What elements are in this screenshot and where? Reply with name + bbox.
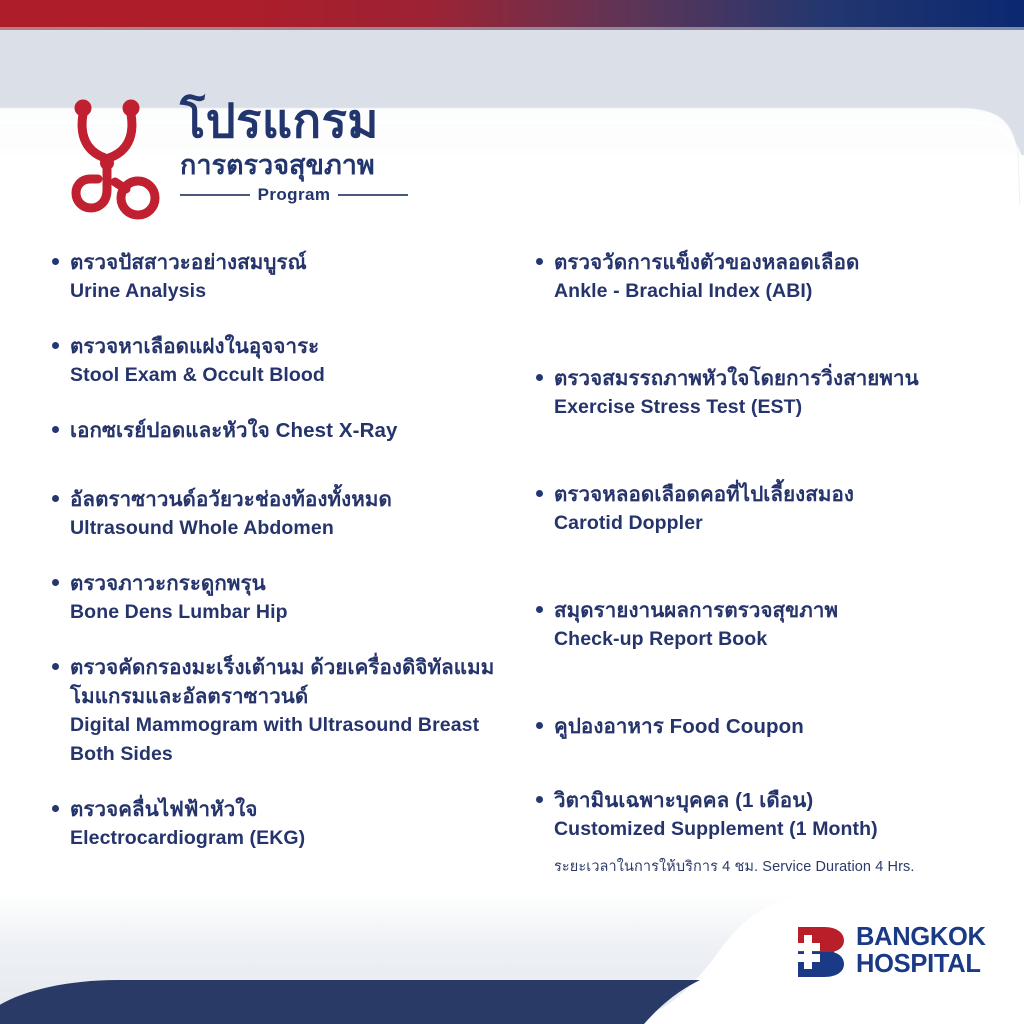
item-thai: ตรวจหลอดเลือดคอที่ไปเลี้ยงสมอง [554, 480, 996, 509]
list-item: ตรวจหลอดเลือดคอที่ไปเลี้ยงสมอง Carotid D… [536, 480, 996, 538]
item-thai: ตรวจปัสสาวะอย่างสมบูรณ์ [70, 248, 502, 277]
bullet-icon [52, 342, 59, 349]
bullet-icon [52, 579, 59, 586]
bangkok-hospital-wordmark: BANGKOK HOSPITAL [856, 924, 986, 978]
brand-line-2: HOSPITAL [856, 951, 986, 978]
rule-left [180, 194, 250, 196]
item-english: Urine Analysis [70, 277, 502, 306]
item-thai: เอกซเรย์ปอดและหัวใจ Chest X-Ray [70, 416, 502, 445]
top-gradient-bar [0, 0, 1024, 27]
program-logo: โปรแกรม การตรวจสุขภาพ Program [68, 92, 398, 224]
footer: BANGKOK HOSPITAL [0, 894, 1024, 1024]
item-english: Ultrasound Whole Abdomen [70, 514, 502, 543]
stethoscope-icon [68, 94, 172, 220]
program-title-thai: โปรแกรม [180, 92, 480, 150]
item-english: Check-up Report Book [554, 625, 996, 654]
program-label-en: Program [258, 185, 331, 205]
item-thai: วิตามินเฉพาะบุคคล (1 เดือน) [554, 786, 996, 815]
item-thai: คูปองอาหาร Food Coupon [554, 712, 996, 741]
bullet-icon [52, 805, 59, 812]
bangkok-hospital-b-cross-logo [794, 926, 848, 978]
service-duration-note: ระยะเวลาในการให้บริการ 4 ชม. Service Dur… [554, 856, 996, 878]
bullet-icon [536, 606, 543, 613]
item-english: Bone Dens Lumbar Hip [70, 598, 502, 627]
list-item: ตรวจภาวะกระดูกพรุน Bone Dens Lumbar Hip [52, 569, 502, 627]
item-thai: ตรวจคัดกรองมะเร็งเต้านม ด้วยเครื่องดิจิท… [70, 653, 502, 711]
service-column-right: ตรวจวัดการแข็งตัวของหลอดเลือด Ankle - Br… [536, 248, 996, 878]
bullet-icon [52, 426, 59, 433]
program-subtitle-thai: การตรวจสุขภาพ [180, 148, 480, 182]
list-item: อัลตราซาวนด์อวัยวะช่องท้องทั้งหมด Ultras… [52, 485, 502, 543]
list-item: วิตามินเฉพาะบุคคล (1 เดือน) Customized S… [536, 786, 996, 844]
list-item: ตรวจวัดการแข็งตัวของหลอดเลือด Ankle - Br… [536, 248, 996, 306]
bullet-icon [536, 258, 543, 265]
bullet-icon [536, 374, 543, 381]
item-english: Exercise Stress Test (EST) [554, 393, 996, 422]
item-thai: สมุดรายงานผลการตรวจสุขภาพ [554, 596, 996, 625]
list-item: สมุดรายงานผลการตรวจสุขภาพ Check-up Repor… [536, 596, 996, 654]
brand-line-1: BANGKOK [856, 924, 986, 951]
bullet-icon [536, 722, 543, 729]
item-english: Electrocardiogram (EKG) [70, 824, 502, 853]
bullet-icon [52, 258, 59, 265]
item-thai: ตรวจสมรรถภาพหัวใจโดยการวิ่งสายพาน [554, 364, 996, 393]
item-thai: ตรวจวัดการแข็งตัวของหลอดเลือด [554, 248, 996, 277]
list-item: ตรวจหาเลือดแฝงในอุจจาระ Stool Exam & Occ… [52, 332, 502, 390]
bangkok-hospital-logo: BANGKOK HOSPITAL [794, 924, 1002, 982]
item-english: Customized Supplement (1 Month) [554, 815, 996, 844]
list-item: ตรวจคัดกรองมะเร็งเต้านม ด้วยเครื่องดิจิท… [52, 653, 502, 769]
list-item: คูปองอาหาร Food Coupon [536, 712, 996, 741]
service-column-left: ตรวจปัสสาวะอย่างสมบูรณ์ Urine Analysis ต… [52, 248, 502, 879]
item-english: Carotid Doppler [554, 509, 996, 538]
item-thai: อัลตราซาวนด์อวัยวะช่องท้องทั้งหมด [70, 485, 502, 514]
rule-right [338, 194, 408, 196]
item-thai: ตรวจภาวะกระดูกพรุน [70, 569, 502, 598]
bullet-icon [52, 663, 59, 670]
item-thai: ตรวจหาเลือดแฝงในอุจจาระ [70, 332, 502, 361]
list-item: เอกซเรย์ปอดและหัวใจ Chest X-Ray [52, 416, 502, 445]
item-english: Digital Mammogram with Ultrasound Breast… [70, 711, 502, 769]
bullet-icon [536, 490, 543, 497]
bullet-icon [536, 796, 543, 803]
item-thai: ตรวจคลื่นไฟฟ้าหัวใจ [70, 795, 502, 824]
list-item: ตรวจสมรรถภาพหัวใจโดยการวิ่งสายพาน Exerci… [536, 364, 996, 422]
program-label-row: Program [180, 185, 408, 205]
item-english: Stool Exam & Occult Blood [70, 361, 502, 390]
item-english: Ankle - Brachial Index (ABI) [554, 277, 996, 306]
list-item: ตรวจคลื่นไฟฟ้าหัวใจ Electrocardiogram (E… [52, 795, 502, 853]
list-item: ตรวจปัสสาวะอย่างสมบูรณ์ Urine Analysis [52, 248, 502, 306]
bullet-icon [52, 495, 59, 502]
